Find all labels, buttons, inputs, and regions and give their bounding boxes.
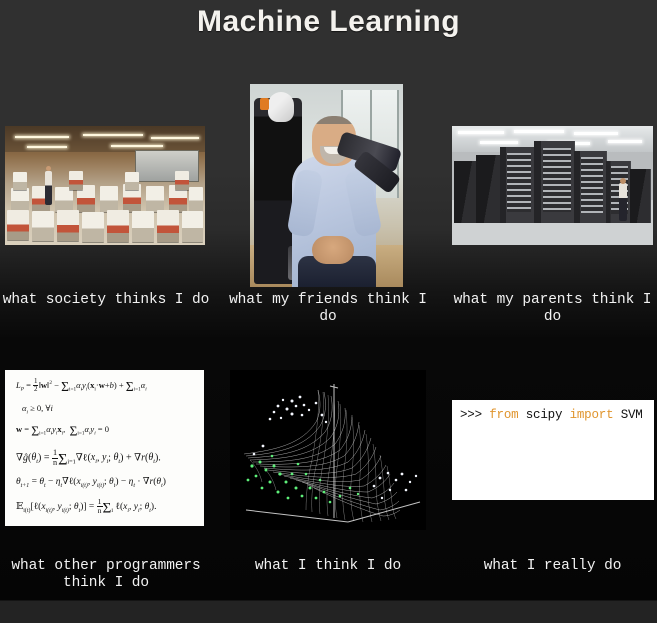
ceiling-light xyxy=(15,136,69,138)
server-rack xyxy=(476,155,501,223)
caption-friends: what my friends think I do xyxy=(222,292,434,326)
server-rack xyxy=(534,141,575,223)
ceiling-light xyxy=(83,134,143,136)
caption-i-think: what I think I do xyxy=(222,558,434,575)
equation-line: ∇ĝ(θt) = 1nΣi=1∇ℓ(xi, yi; θt) + ∇r(θt). xyxy=(16,449,197,467)
machine-unit xyxy=(57,210,79,241)
machine-unit xyxy=(32,211,54,241)
equation-line: θt+1 = θt − ηt∇ℓ(xi(t), yi(t); θt) − ηt … xyxy=(16,476,197,489)
machine-unit xyxy=(157,210,179,242)
person-in-hall xyxy=(45,171,52,205)
console-line: >>> from scipy import SVM xyxy=(460,408,643,422)
machine-unit xyxy=(182,211,203,242)
3d-surface-plot xyxy=(230,370,426,530)
technician xyxy=(619,183,627,221)
machine-unit xyxy=(100,186,118,212)
server-rack xyxy=(574,151,607,223)
meme-image: Machine Learning what society t xyxy=(0,0,657,623)
keyword-from: from xyxy=(489,408,518,422)
machine-unit xyxy=(82,212,104,242)
equation-line: w = Σi=1αiyixi, Σi=1αiyi = 0 xyxy=(16,424,197,437)
machine-unit xyxy=(55,187,73,212)
imported-symbol: SVM xyxy=(621,408,643,422)
robot-head xyxy=(268,92,294,122)
machine-unit xyxy=(125,172,139,190)
equation-sheet: LP = 12‖w‖2 − Σi=1αiyi(xi·w+b) + Σi=1αi … xyxy=(5,370,204,526)
console-prompt: >>> xyxy=(460,408,482,422)
caption-other-programmers: what other programmers think I do xyxy=(0,558,212,592)
panel-friends-image xyxy=(250,84,403,287)
machine-unit xyxy=(11,188,29,212)
machine-unit xyxy=(7,210,29,240)
hall-projector-screen xyxy=(135,150,199,182)
caption-parents: what my parents think I do xyxy=(448,292,657,326)
ceiling-light xyxy=(458,131,504,134)
machine-unit xyxy=(175,171,189,190)
machine-unit xyxy=(189,187,203,212)
server-rack xyxy=(500,147,535,223)
panel-society-image xyxy=(5,126,205,245)
equation-line: 𝔼i(t)[ℓ(xi(t), yi(t); θt)] = 1nΣi ℓ(xi, … xyxy=(16,498,197,515)
machine-unit xyxy=(146,186,164,212)
panel-equations-image: LP = 12‖w‖2 − Σi=1αiyi(xi·w+b) + Σi=1αi … xyxy=(5,370,204,526)
ceiling-light xyxy=(151,137,199,139)
keyword-import: import xyxy=(570,408,614,422)
module-name: scipy xyxy=(526,408,563,422)
server-rack xyxy=(630,169,651,223)
ceiling-light xyxy=(608,140,642,143)
page-title: Machine Learning xyxy=(197,5,460,39)
ceiling-light xyxy=(111,145,163,147)
machine-unit xyxy=(107,210,129,242)
hall-ceiling xyxy=(5,126,205,152)
equation-line: αi ≥ 0, ∀i xyxy=(22,403,197,416)
ceiling-light xyxy=(514,130,564,133)
ceiling-light xyxy=(574,132,618,135)
panel-i-really-do-image: >>> from scipy import SVM xyxy=(452,400,654,500)
machine-unit xyxy=(69,171,83,190)
ceiling-light xyxy=(27,146,67,148)
ceiling-light xyxy=(480,141,518,144)
man-clasped-hands xyxy=(312,236,354,264)
machine-unit xyxy=(13,172,27,190)
server-rack xyxy=(454,161,477,223)
caption-society: what society thinks I do xyxy=(0,292,212,309)
caption-i-really-do: what I really do xyxy=(448,558,657,575)
machine-unit xyxy=(132,211,154,242)
title-band: Machine Learning xyxy=(0,0,657,44)
equation-line: LP = 12‖w‖2 − Σi=1αiyi(xi·w+b) + Σi=1αi xyxy=(16,378,197,394)
panel-i-think-image xyxy=(230,370,426,530)
panel-parents-image xyxy=(452,126,653,245)
